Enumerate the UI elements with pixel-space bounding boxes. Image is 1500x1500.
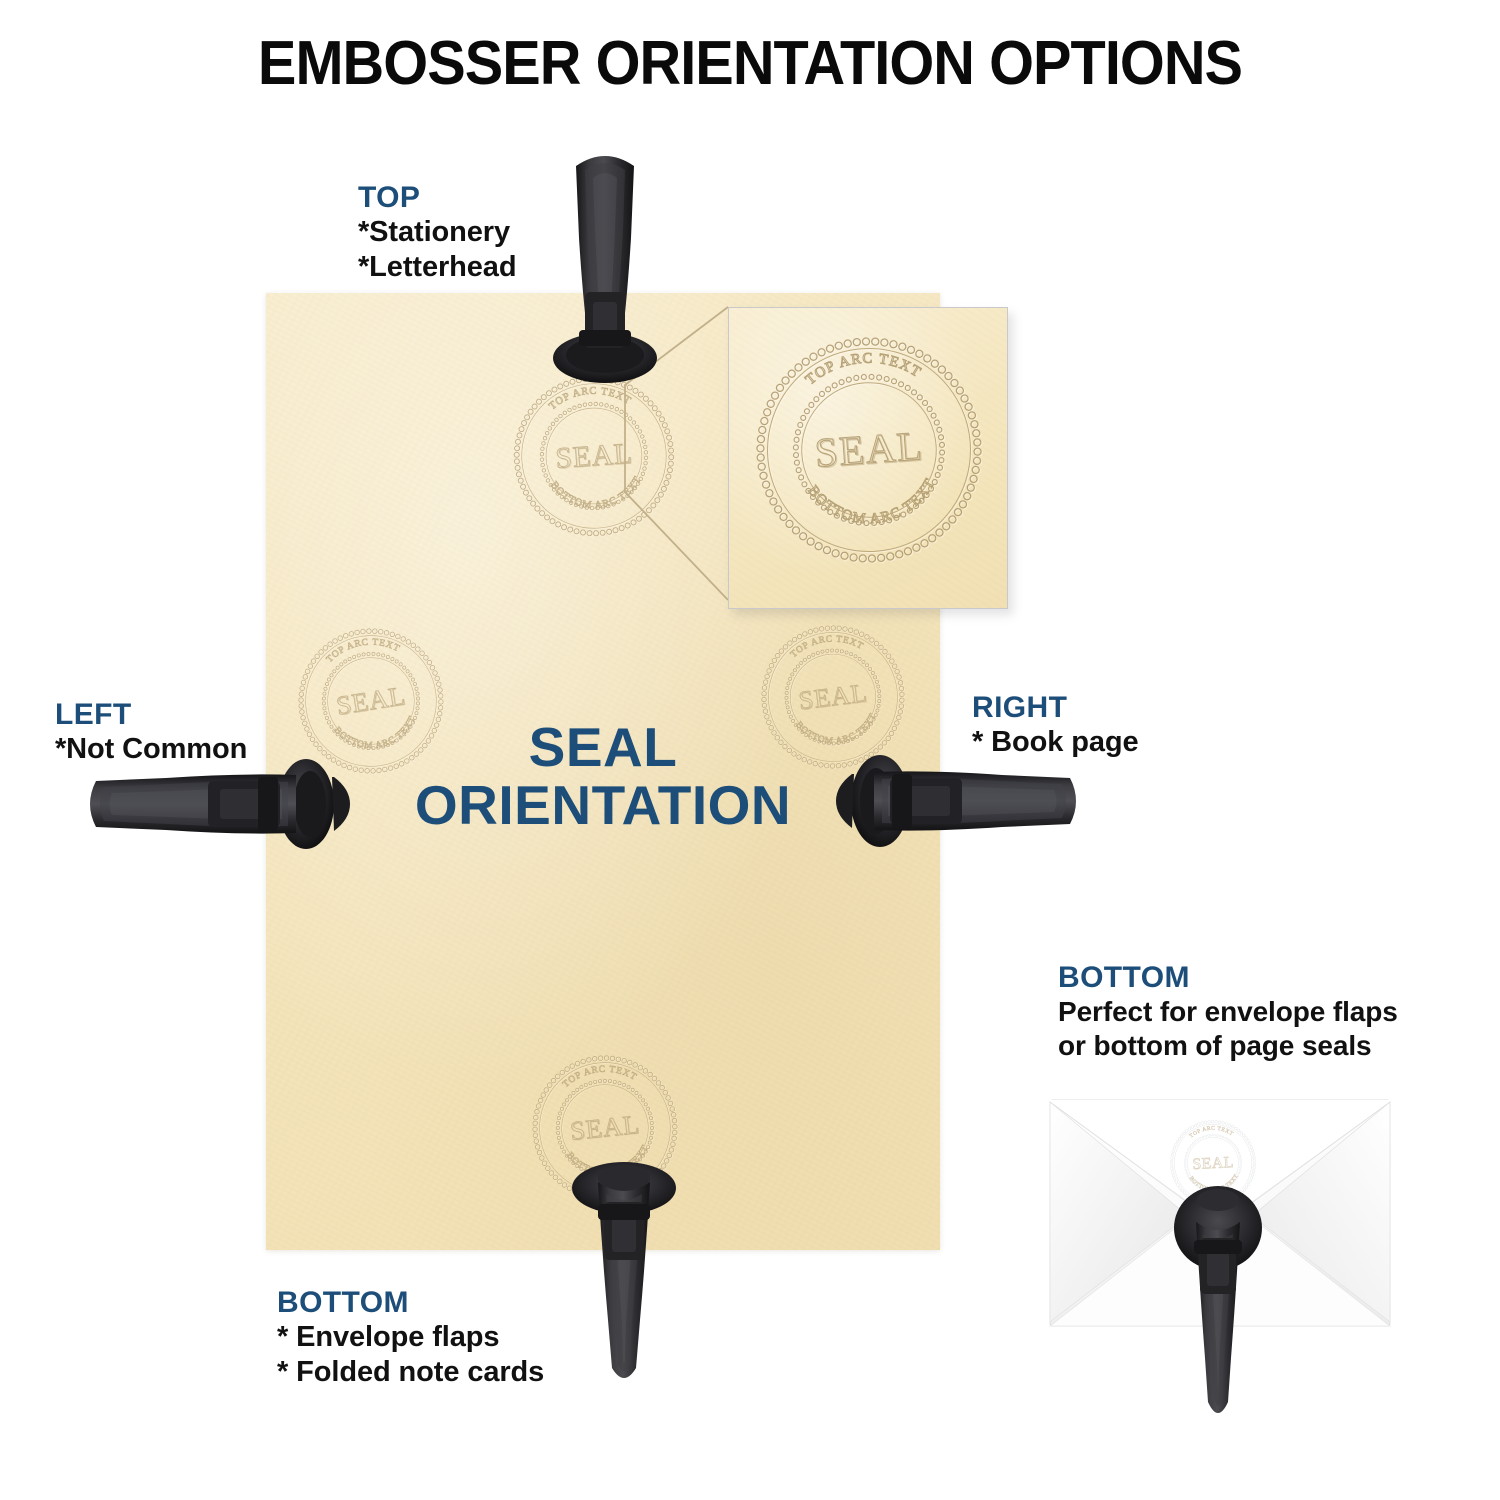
embosser-bottom[interactable]: [568, 1142, 680, 1400]
svg-text:SEAL: SEAL: [814, 423, 925, 476]
label-bottom-left-heading: BOTTOM: [277, 1285, 544, 1320]
label-right: RIGHT * Book page: [972, 690, 1139, 760]
label-left-heading: LEFT: [55, 697, 247, 732]
label-bottom-right: BOTTOM Perfect for envelope flaps or bot…: [1058, 960, 1398, 1063]
label-bottom-right-line-0: Perfect for envelope flaps: [1058, 995, 1398, 1029]
label-top: TOP *Stationery *Letterhead: [358, 180, 516, 285]
embosser-envelope[interactable]: [1172, 1186, 1264, 1434]
embosser-vertical-icon: [1172, 1186, 1264, 1434]
label-top-line-1: *Letterhead: [358, 250, 516, 285]
svg-text:TOP ARC TEXT: TOP ARC TEXT: [801, 347, 925, 389]
embosser-top[interactable]: [549, 152, 661, 384]
label-bottom-left: BOTTOM * Envelope flaps * Folded note ca…: [277, 1285, 544, 1390]
infographic-canvas: EMBOSSER ORIENTATION OPTIONS TOP ARC TEX…: [0, 0, 1500, 1500]
embosser-horizontal-left-icon: [88, 755, 350, 853]
label-left-line-0: *Not Common: [55, 732, 247, 767]
center-label-line1: SEAL: [266, 718, 940, 776]
seal-impression-magnified: TOP ARC TEXT BOTTOM ARC TEXT SEAL SEAL: [751, 332, 987, 568]
label-left: LEFT *Not Common: [55, 697, 247, 767]
embosser-right[interactable]: [848, 752, 1080, 850]
embosser-vertical-icon: [568, 1142, 680, 1400]
label-bottom-left-line-1: * Folded note cards: [277, 1355, 544, 1390]
label-top-line-0: *Stationery: [358, 215, 516, 250]
label-bottom-right-line-1: or bottom of page seals: [1058, 1029, 1398, 1063]
embosser-vertical-icon: [549, 152, 661, 384]
label-right-line-0: * Book page: [972, 725, 1139, 760]
magnifier-callout-panel: TOP ARC TEXT BOTTOM ARC TEXT SEAL SEAL: [728, 307, 1008, 609]
embosser-horizontal-right-icon: [848, 752, 1080, 850]
label-bottom-right-heading: BOTTOM: [1058, 960, 1398, 995]
label-top-heading: TOP: [358, 180, 516, 215]
svg-text:BOTTOM ARC TEXT: BOTTOM ARC TEXT: [804, 474, 942, 531]
label-bottom-left-line-0: * Envelope flaps: [277, 1320, 544, 1355]
label-right-heading: RIGHT: [972, 690, 1139, 725]
center-orientation-label: SEAL ORIENTATION: [266, 718, 940, 835]
embosser-left[interactable]: [88, 755, 350, 853]
page-title: EMBOSSER ORIENTATION OPTIONS: [53, 28, 1448, 99]
svg-text:SEAL: SEAL: [813, 422, 924, 475]
